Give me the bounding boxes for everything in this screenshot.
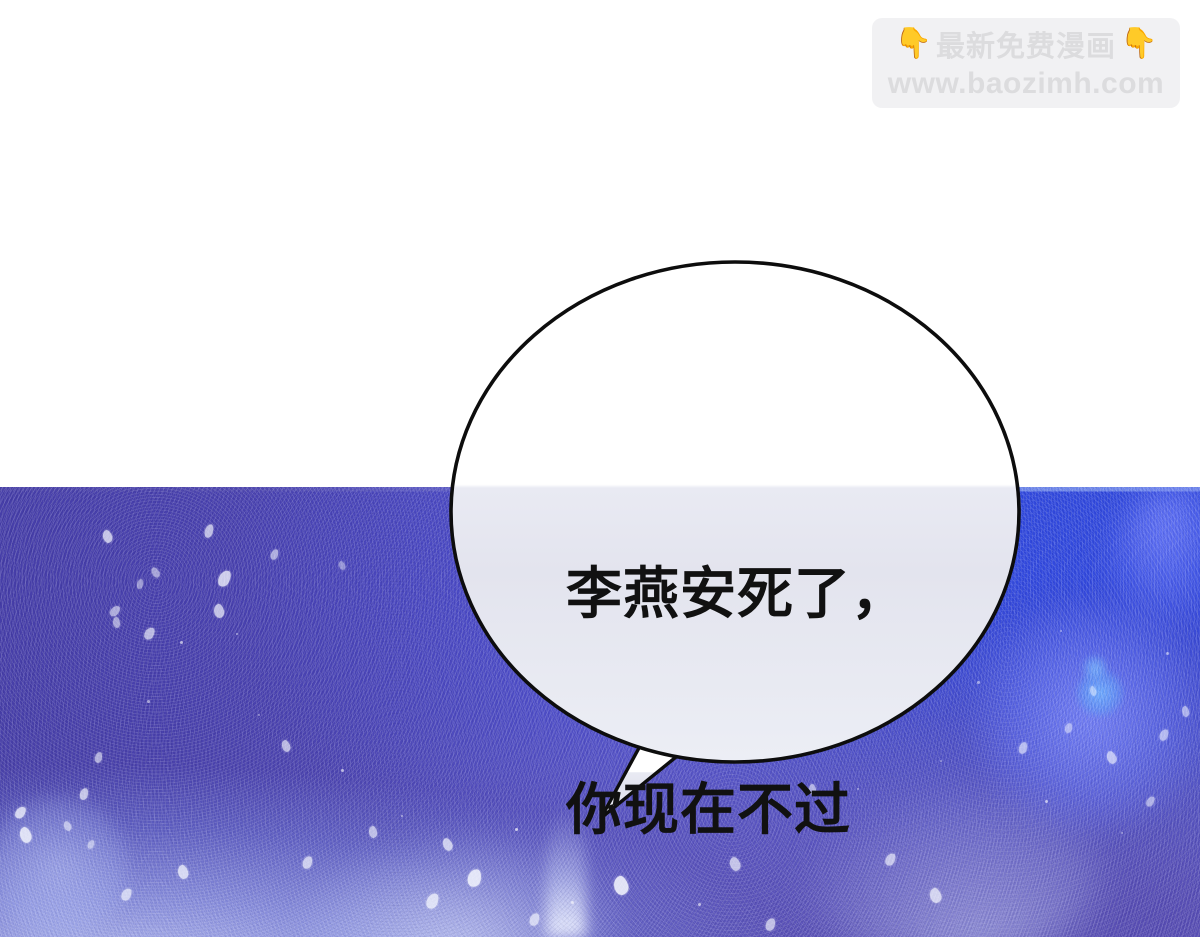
spark-particle [147, 700, 150, 703]
spark-particle [515, 828, 518, 831]
site-watermark: 👇 最新免费漫画 👇 www.baozimh.com [872, 18, 1180, 108]
spark-particle [341, 769, 344, 772]
speech-line-1: 李燕安死了， [566, 558, 966, 630]
watermark-headline: 最新免费漫画 [936, 23, 1116, 65]
spark-particle [1121, 832, 1123, 834]
spark-particle [180, 641, 183, 644]
spark-particle [1060, 630, 1062, 632]
speech-bubble-text: 李燕安死了， 你现在不过 是个寡夫。 [566, 414, 966, 937]
watermark-headline-row: 👇 最新免费漫画 👇 [895, 24, 1158, 64]
watermark-url: www.baozimh.com [888, 66, 1164, 102]
spark-particle [401, 815, 403, 817]
comic-panel: 李燕安死了， 你现在不过 是个寡夫。 👇 最新免费漫画 👇 www.baozim… [0, 0, 1200, 937]
spark-particle [258, 714, 260, 716]
spark-particle [1166, 652, 1169, 655]
spark-particle [1045, 800, 1048, 803]
speech-line-2: 你现在不过 [566, 774, 966, 846]
pointing-down-hand-right-icon: 👇 [1120, 29, 1157, 59]
pointing-down-hand-left-icon: 👇 [895, 29, 932, 59]
spark-particle [236, 633, 238, 635]
spark-particle [977, 681, 980, 684]
